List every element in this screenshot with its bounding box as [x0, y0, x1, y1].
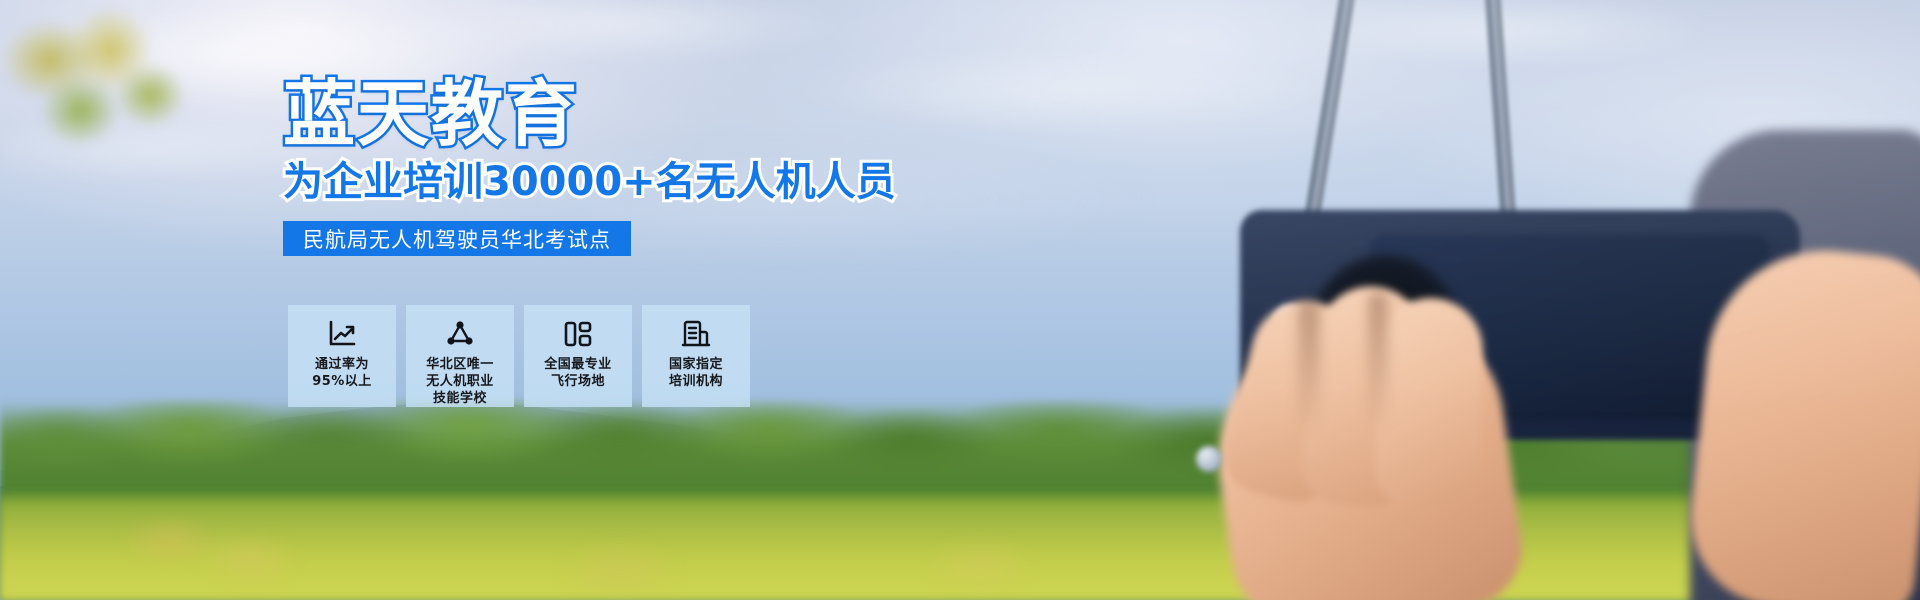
feature-card-flight-field[interactable]: 全国最专业 飞行场地 [524, 305, 632, 407]
certification-badge: 民航局无人机驾驶员华北考试点 [283, 221, 631, 256]
feature-card-label: 全国最专业 飞行场地 [540, 356, 616, 390]
banner-headline: 蓝天教育 [283, 78, 579, 150]
feature-card-line-2: 95%以上 [312, 373, 372, 390]
feature-card-label: 国家指定 培训机构 [665, 356, 727, 390]
building-icon [680, 318, 712, 350]
banner-subheadline: 为企业培训30000+名无人机人员 [283, 162, 896, 202]
feature-card-line-2: 飞行场地 [544, 373, 612, 390]
network-nodes-icon [444, 318, 476, 350]
feature-card-row: 通过率为 95%以上 华北区唯一 [288, 305, 750, 407]
feature-card-line-1: 通过率为 [312, 356, 372, 373]
feature-card-line-2: 培训机构 [669, 373, 723, 390]
feature-card-label: 通过率为 95%以上 [308, 356, 376, 390]
feature-card-line-3: 技能学校 [426, 390, 494, 407]
feature-card-line-2: 无人机职业 [426, 373, 494, 390]
feature-card-line-1: 国家指定 [669, 356, 723, 373]
feature-card-label: 华北区唯一 无人机职业 技能学校 [422, 356, 498, 407]
banner-content: 蓝天教育 为企业培训30000+名无人机人员 民航局无人机驾驶员华北考试点 通过… [0, 0, 1920, 600]
layout-panels-icon [562, 318, 594, 350]
feature-card-national-institution[interactable]: 国家指定 培训机构 [642, 305, 750, 407]
feature-card-vocational-school[interactable]: 华北区唯一 无人机职业 技能学校 [406, 305, 514, 407]
hero-banner: 蓝天教育 为企业培训30000+名无人机人员 民航局无人机驾驶员华北考试点 通过… [0, 0, 1920, 600]
feature-card-line-1: 全国最专业 [544, 356, 612, 373]
feature-card-pass-rate[interactable]: 通过率为 95%以上 [288, 305, 396, 407]
chart-trending-up-icon [326, 318, 358, 350]
feature-card-line-1: 华北区唯一 [426, 356, 494, 373]
